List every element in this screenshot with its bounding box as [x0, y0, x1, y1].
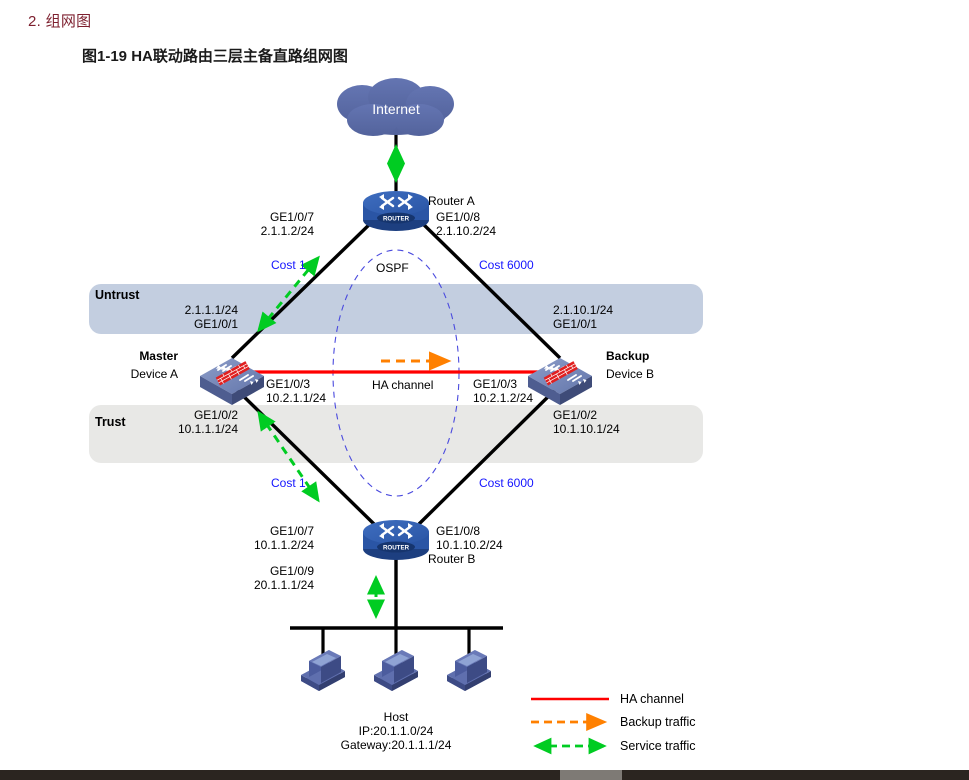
legend-label-backup-traffic: Backup traffic — [620, 715, 696, 729]
router-a-left-if: GE1/0/7 — [236, 211, 314, 225]
device-b-icon — [528, 358, 592, 405]
bottom-strip — [0, 770, 969, 780]
cost-label-top-right: Cost 6000 — [479, 259, 534, 273]
router-b-left-ip: 10.1.1.2/24 — [236, 539, 314, 553]
cost-label-bottom-left: Cost 1 — [271, 477, 306, 491]
host-gateway: Gateway:20.1.1.1/24 — [316, 739, 476, 753]
device-b-untrust-ip: 2.1.10.1/24 — [553, 304, 613, 318]
device-a-ha-ip: 10.2.1.1/24 — [266, 392, 326, 406]
device-b-trust-if: GE1/0/2 — [553, 409, 597, 423]
device-b-name: Device B — [606, 368, 654, 382]
zone-untrust-label: Untrust — [95, 288, 139, 302]
zone-trust-label: Trust — [95, 415, 126, 429]
router-a-right-if: GE1/0/8 — [436, 211, 480, 225]
svg-text:ROUTER: ROUTER — [383, 545, 410, 552]
router-b-right-ip: 10.1.10.2/24 — [436, 539, 503, 553]
device-b-untrust-if: GE1/0/1 — [553, 318, 597, 332]
device-a-untrust-if: GE1/0/1 — [130, 318, 238, 332]
legend-label-service-traffic: Service traffic — [620, 739, 696, 753]
bottom-strip-highlight — [560, 770, 622, 780]
ha-channel-label: HA channel — [372, 379, 433, 393]
router-b-down-ip: 20.1.1.1/24 — [210, 579, 314, 593]
router-a-left-ip: 2.1.1.2/24 — [236, 225, 314, 239]
device-b-trust-ip: 10.1.10.1/24 — [553, 423, 620, 437]
host-pc-mid — [374, 650, 418, 691]
device-a-trust-ip: 10.1.1.1/24 — [130, 423, 238, 437]
device-b-ha-if: GE1/0/3 — [473, 378, 517, 392]
router-a-right-ip: 2.1.10.2/24 — [436, 225, 496, 239]
device-a-ha-if: GE1/0/3 — [266, 378, 310, 392]
svg-text:ROUTER: ROUTER — [383, 216, 410, 223]
cost-label-top-left: Cost 1 — [271, 259, 306, 273]
host-name: Host — [316, 711, 476, 725]
host-pc-left — [301, 650, 345, 691]
cost-label-bottom-right: Cost 6000 — [479, 477, 534, 491]
router-b-name: Router B — [428, 553, 475, 567]
device-a-untrust-ip: 2.1.1.1/24 — [130, 304, 238, 318]
device-b-ha-ip: 10.2.1.2/24 — [473, 392, 533, 406]
router-a-name: Router A — [428, 195, 475, 209]
legend-label-ha-channel: HA channel — [620, 692, 684, 706]
router-a-icon: ROUTER — [363, 191, 429, 231]
device-a-name: Device A — [88, 368, 178, 382]
router-b-down-if: GE1/0/9 — [210, 565, 314, 579]
device-b-role: Backup — [606, 350, 649, 364]
device-a-role: Master — [88, 350, 178, 364]
router-b-left-if: GE1/0/7 — [236, 525, 314, 539]
host-pc-right — [447, 650, 491, 691]
router-b-right-if: GE1/0/8 — [436, 525, 480, 539]
internet-label: Internet — [360, 101, 432, 117]
host-ip: IP:20.1.1.0/24 — [316, 725, 476, 739]
device-a-icon — [200, 358, 264, 405]
ospf-label: OSPF — [376, 262, 409, 276]
router-b-icon: ROUTER — [363, 520, 429, 560]
device-a-trust-if: GE1/0/2 — [130, 409, 238, 423]
